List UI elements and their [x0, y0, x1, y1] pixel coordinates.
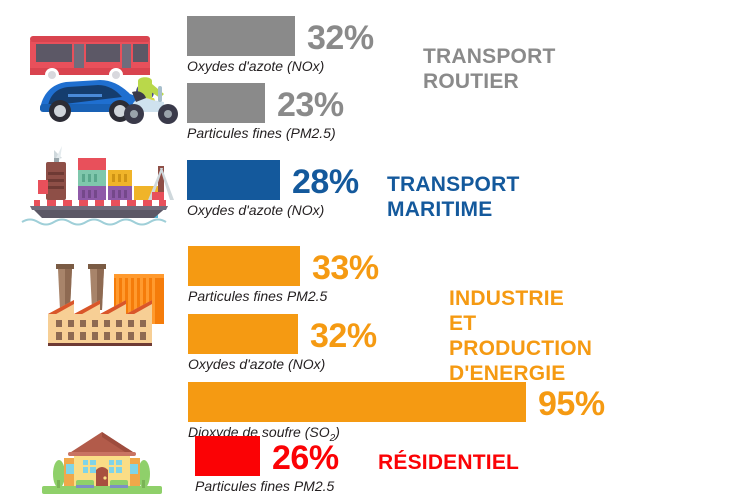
bar-row-nox-road: 32% Oxydes d'azote (NOx)	[187, 16, 374, 74]
bar-value-nox-industry: 32%	[310, 319, 377, 353]
bar-value-pm-road: 23%	[277, 88, 344, 122]
sector-title-road-transport: TRANSPORT ROUTIER	[423, 44, 555, 94]
tree-icon-left	[53, 460, 65, 488]
bar-pm-industry	[188, 246, 300, 286]
sector-title-residential: RÉSIDENTIEL	[378, 450, 519, 475]
ship-crane	[148, 166, 174, 200]
bar-label-nox-maritime: Oxydes d'azote (NOx)	[187, 202, 359, 218]
bar-value-so2-industry: 95%	[538, 387, 605, 421]
house-icon	[32, 428, 172, 500]
residential-bar-group: 26% Particules fines PM2.5	[195, 436, 339, 494]
bar-pm-residential	[195, 436, 260, 476]
bar-label-pm-residential: Particules fines PM2.5	[195, 478, 339, 494]
bus-icon	[30, 36, 150, 82]
sector-title-industry: INDUSTRIE ET PRODUCTION D'ENERGIE	[449, 286, 592, 386]
bar-row-pm-road: 23% Particules fines (PM2.5)	[187, 83, 374, 141]
infographic-canvas: 32% Oxydes d'azote (NOx) 23% Particules …	[0, 0, 748, 500]
bar-row-pm-residential: 26% Particules fines PM2.5	[195, 436, 339, 494]
maritime-bar-group: 28% Oxydes d'azote (NOx)	[187, 160, 359, 218]
bar-label-nox-road: Oxydes d'azote (NOx)	[187, 58, 374, 74]
bar-nox-industry	[188, 314, 298, 354]
bar-label-pm-road: Particules fines (PM2.5)	[187, 125, 374, 141]
bar-nox-maritime	[187, 160, 280, 200]
road-transport-icon	[12, 18, 180, 130]
road-bar-group: 32% Oxydes d'azote (NOx) 23% Particules …	[187, 16, 374, 141]
bar-nox-road	[187, 16, 295, 56]
water-waves	[22, 220, 166, 225]
car-icon	[40, 80, 136, 122]
bar-pm-road	[187, 83, 265, 123]
bar-so2-industry	[188, 382, 526, 422]
bar-value-nox-road: 32%	[307, 21, 374, 55]
sector-title-maritime-transport: TRANSPORT MARITIME	[387, 172, 519, 222]
cargo-ship-icon	[16, 142, 176, 224]
bar-value-pm-industry: 33%	[312, 251, 379, 285]
ship-mast	[54, 146, 62, 164]
bar-value-pm-residential: 26%	[272, 441, 339, 475]
bar-row-nox-maritime: 28% Oxydes d'azote (NOx)	[187, 160, 359, 218]
bar-row-so2-industry: 95% Dioxyde de soufre (SO2)	[188, 382, 605, 444]
bar-value-nox-maritime: 28%	[292, 165, 359, 199]
factory-icon	[40, 248, 160, 348]
